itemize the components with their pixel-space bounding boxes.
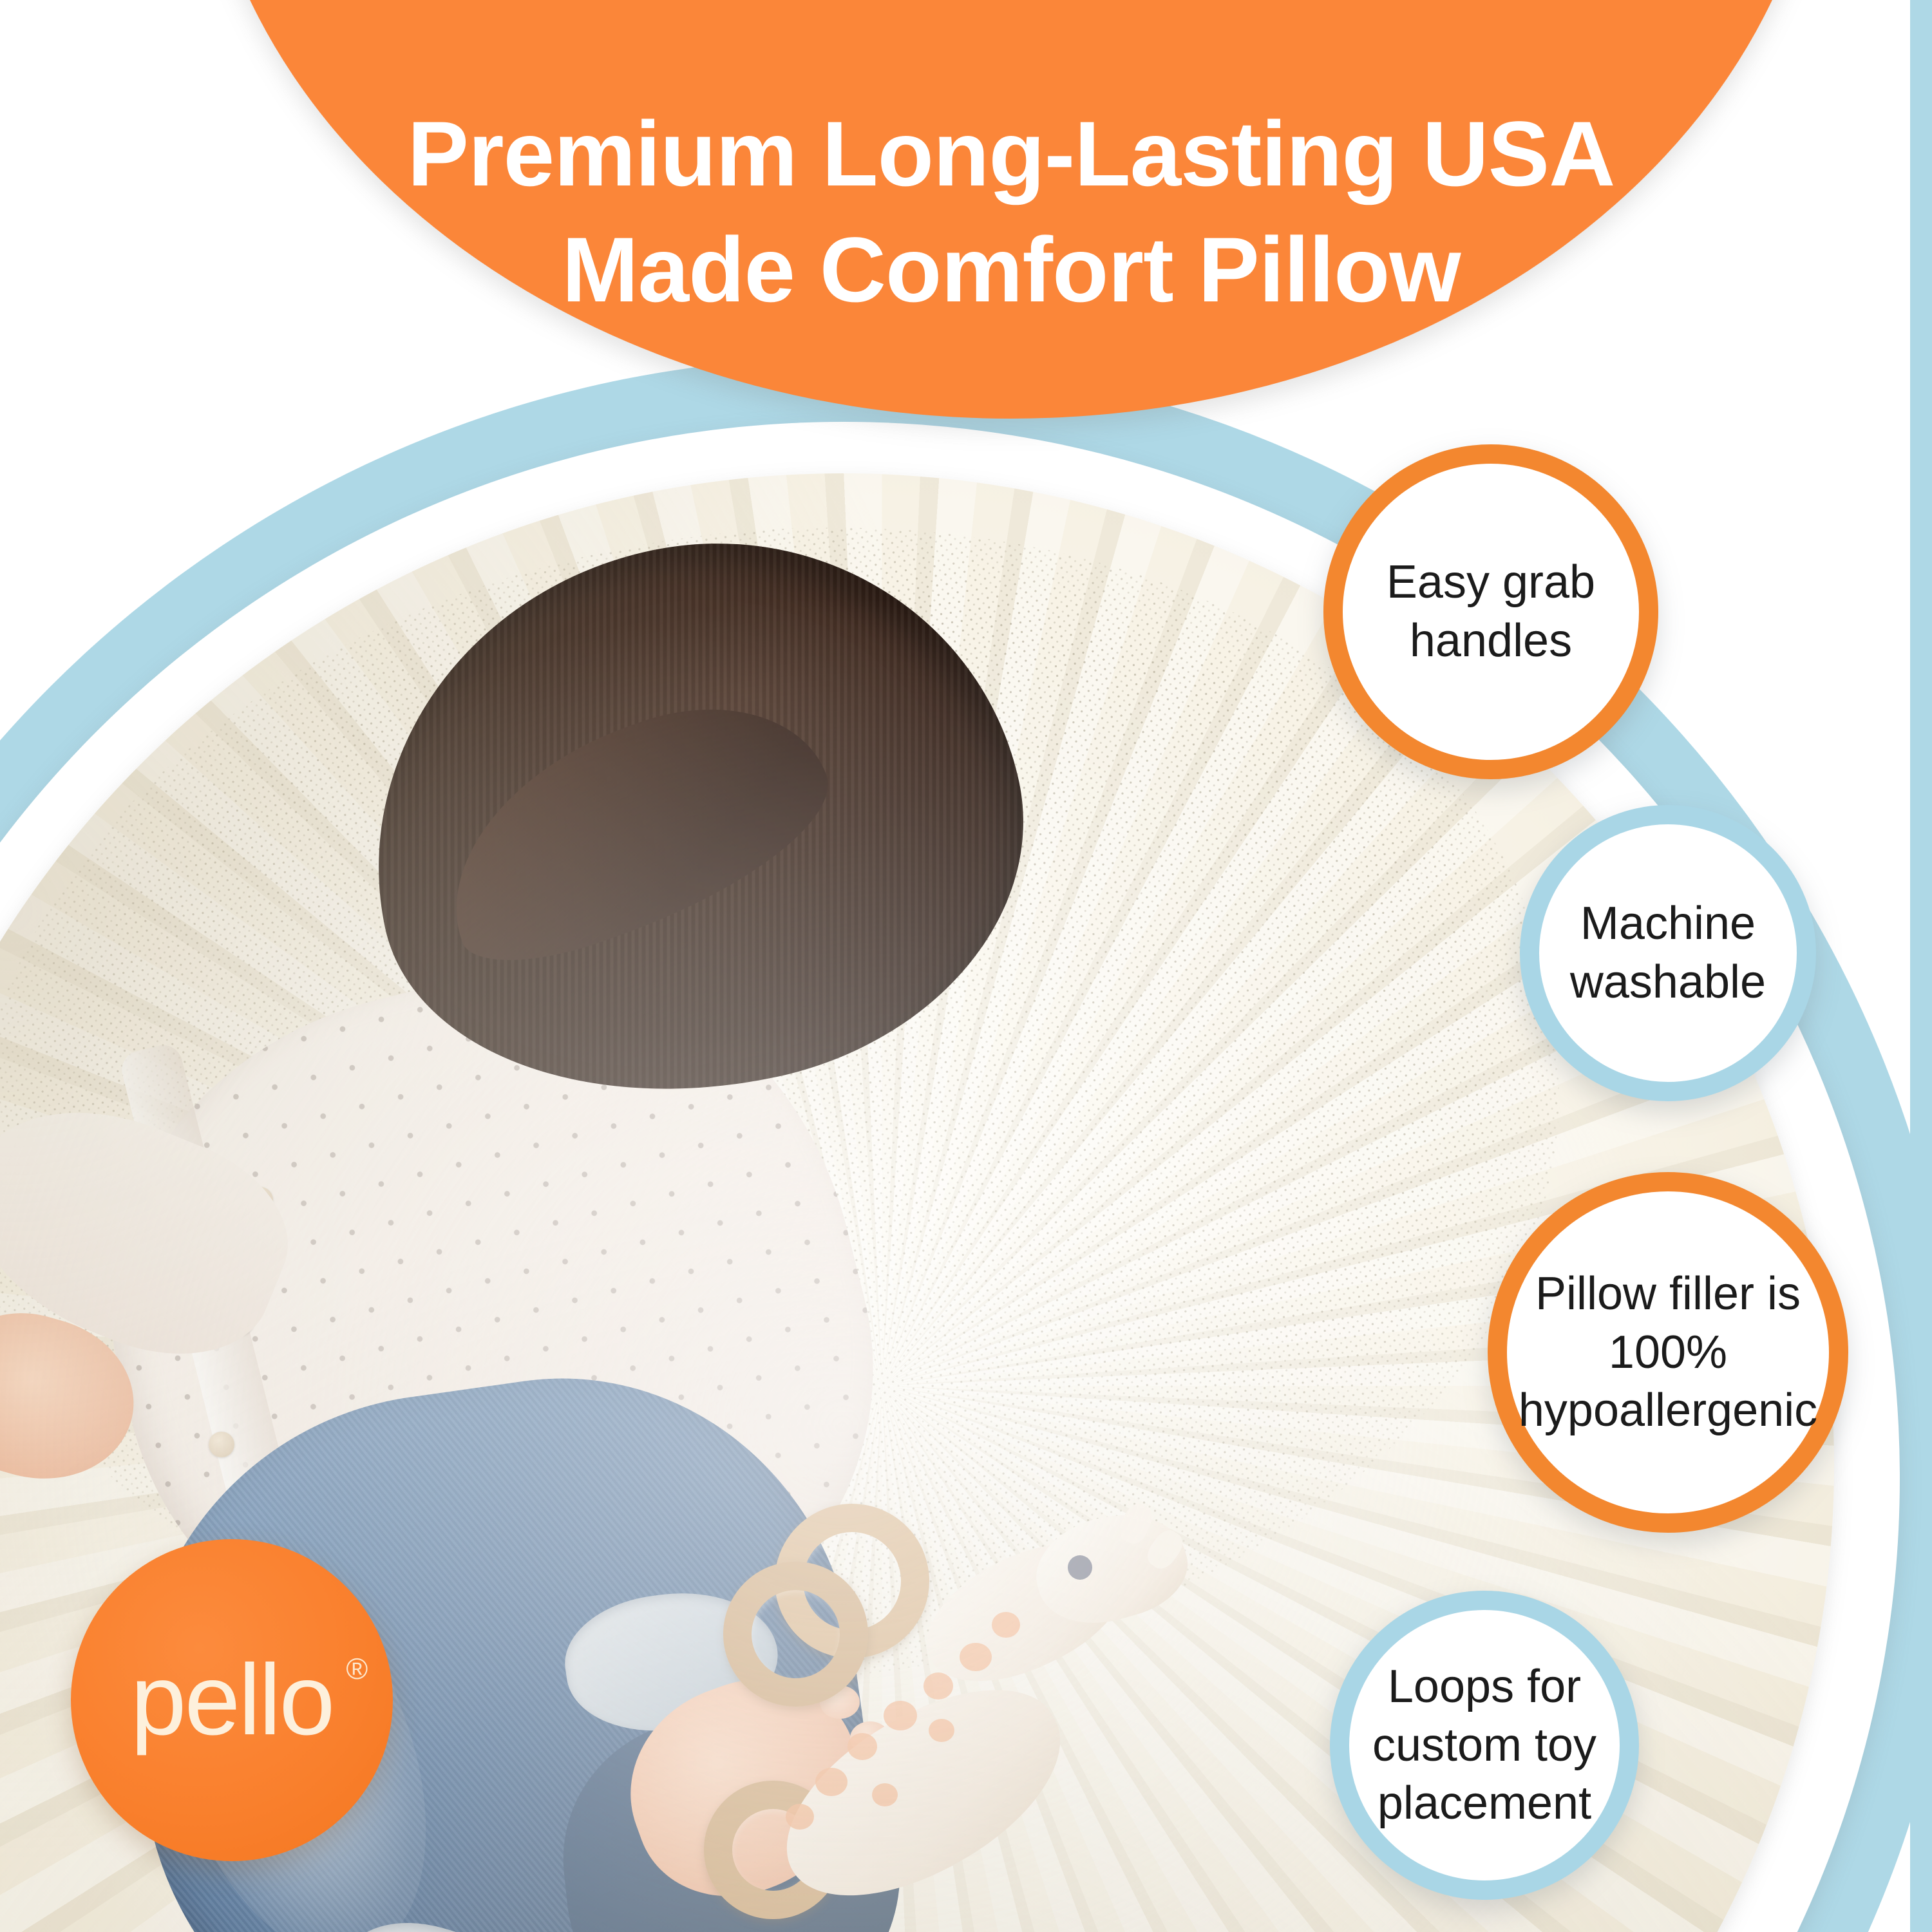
feature-badge-toy-loops[interactable]: Loops for custom toy placement [1330, 1591, 1639, 1900]
feature-badge-label: Loops for custom toy placement [1349, 1658, 1620, 1833]
feature-badge-machine-washable[interactable]: Machine washable [1520, 805, 1816, 1101]
brand-wordmark: pello® [131, 1650, 334, 1750]
title-line-1: Premium Long-Lasting USA [408, 103, 1615, 205]
feature-badge-label: Pillow filler is 100% hypoallergenic [1507, 1265, 1829, 1440]
feature-badge-label: Easy grab handles [1343, 553, 1639, 670]
title-line-2: Made Comfort Pillow [213, 213, 1810, 328]
page-title: Premium Long-Lasting USA Made Comfort Pi… [213, 97, 1810, 328]
infographic-canvas: Premium Long-Lasting USA Made Comfort Pi… [0, 0, 1932, 1932]
brand-logo[interactable]: pello® [71, 1539, 393, 1861]
registered-trademark-icon: ® [346, 1654, 368, 1683]
feature-badge-hypoallergenic[interactable]: Pillow filler is 100% hypoallergenic [1488, 1172, 1848, 1533]
feature-badge-label: Machine washable [1539, 895, 1797, 1011]
feature-badge-easy-grab-handles[interactable]: Easy grab handles [1323, 444, 1658, 779]
